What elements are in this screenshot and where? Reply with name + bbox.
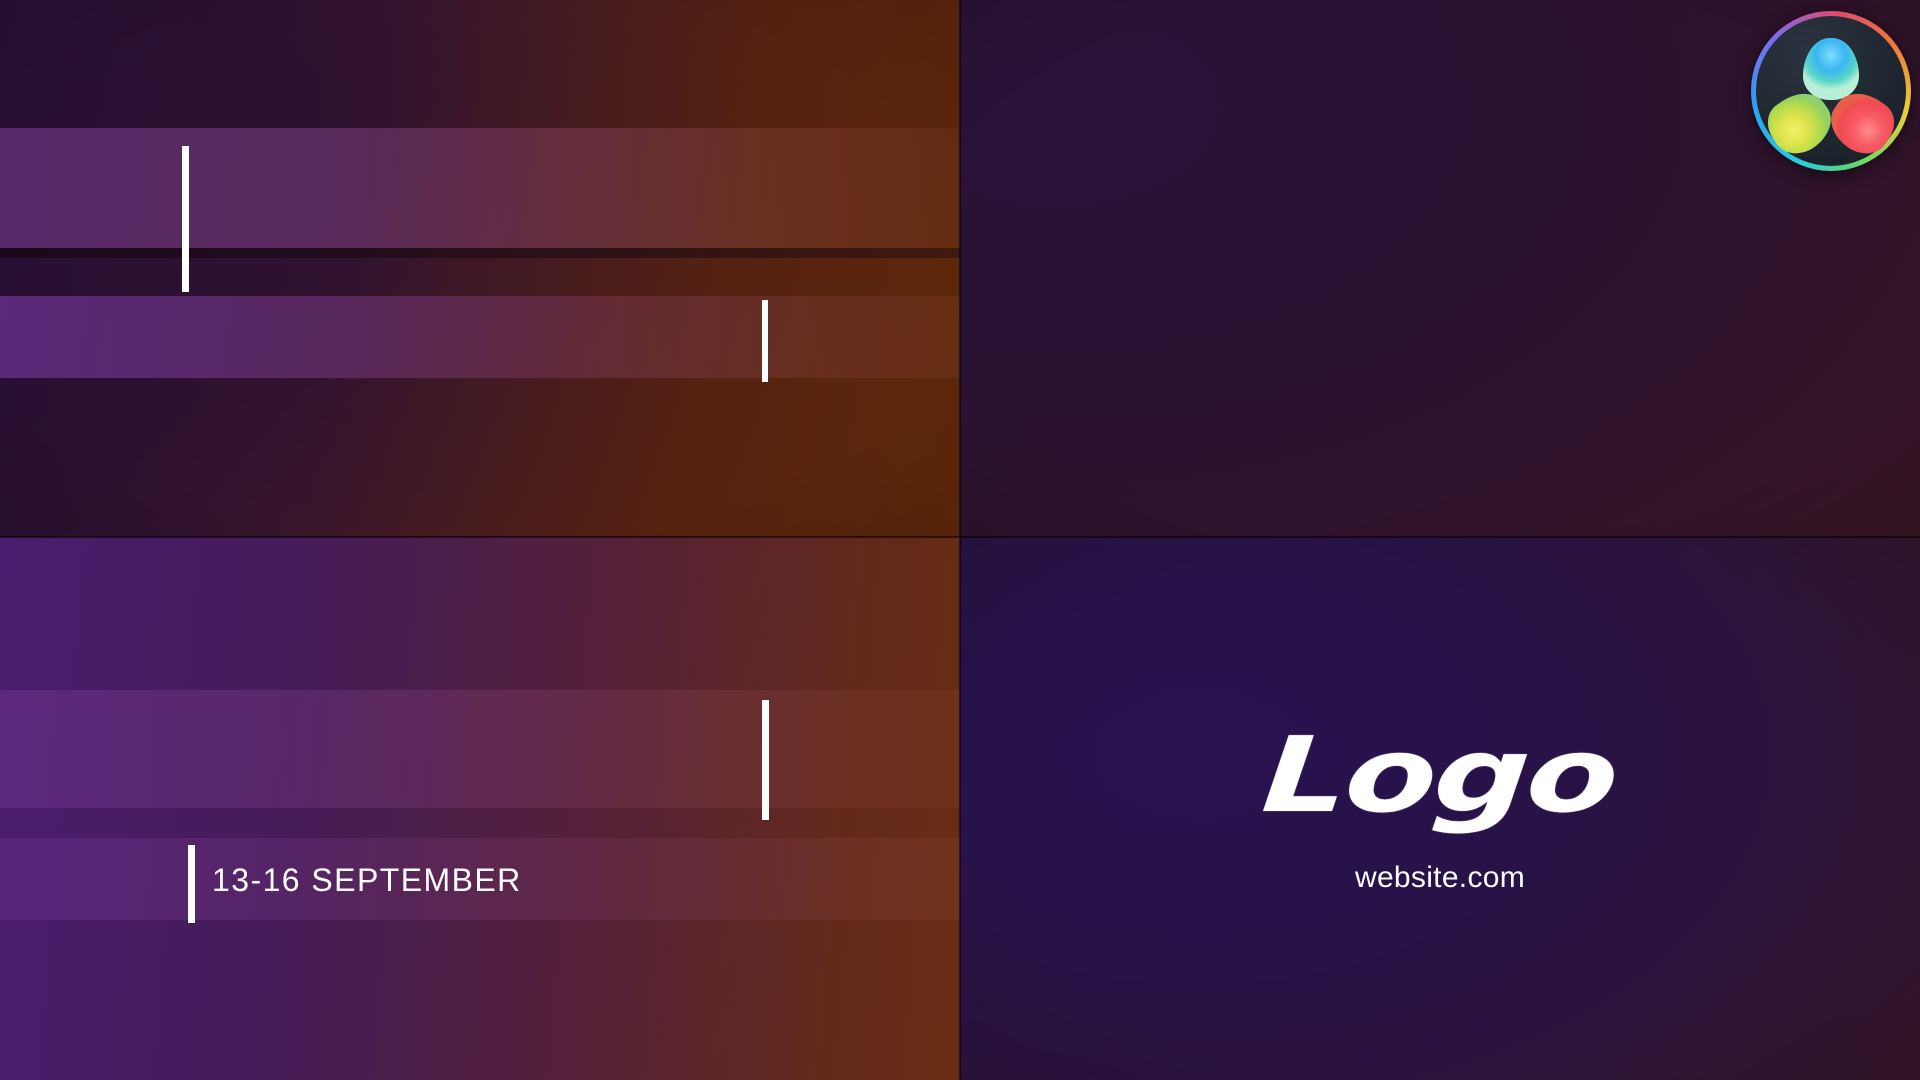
quadrant-future-card: [0, 537, 960, 1080]
background-gradient: [0, 537, 960, 1080]
subtitle-band: [0, 296, 960, 378]
quadrant-divider-vertical: [959, 0, 961, 1080]
title-rule: [182, 146, 189, 292]
davinci-resolve-icon[interactable]: [1751, 11, 1911, 171]
cyan-drop-icon: [1803, 38, 1859, 100]
date-rule: [762, 300, 768, 382]
template-preview-canvas: EVENT PROMO 13-16 SEPTEMBER CHICAGO WEDN…: [0, 0, 1920, 1080]
logo-text: Logo: [1259, 723, 1621, 827]
logo-block: Logo website.com: [960, 537, 1920, 1080]
future-date-rule: [188, 845, 195, 923]
title-band: [0, 128, 960, 248]
website-text: website.com: [1355, 861, 1525, 895]
future-headline-rule: [762, 700, 769, 820]
future-headline-band: [0, 690, 960, 808]
red-drop-icon: [1834, 92, 1890, 154]
davinci-icon-inner: [1756, 16, 1906, 166]
yellow-drop-icon: [1772, 92, 1828, 154]
quadrant-divider-horizontal: [0, 536, 1920, 538]
background-overlay: [0, 0, 960, 537]
divider-band: [0, 248, 960, 258]
quadrant-event-title-card: EVENT PROMO 13-16 SEPTEMBER CHICAGO: [0, 0, 960, 537]
future-date: 13-16 SEPTEMBER: [212, 862, 522, 899]
